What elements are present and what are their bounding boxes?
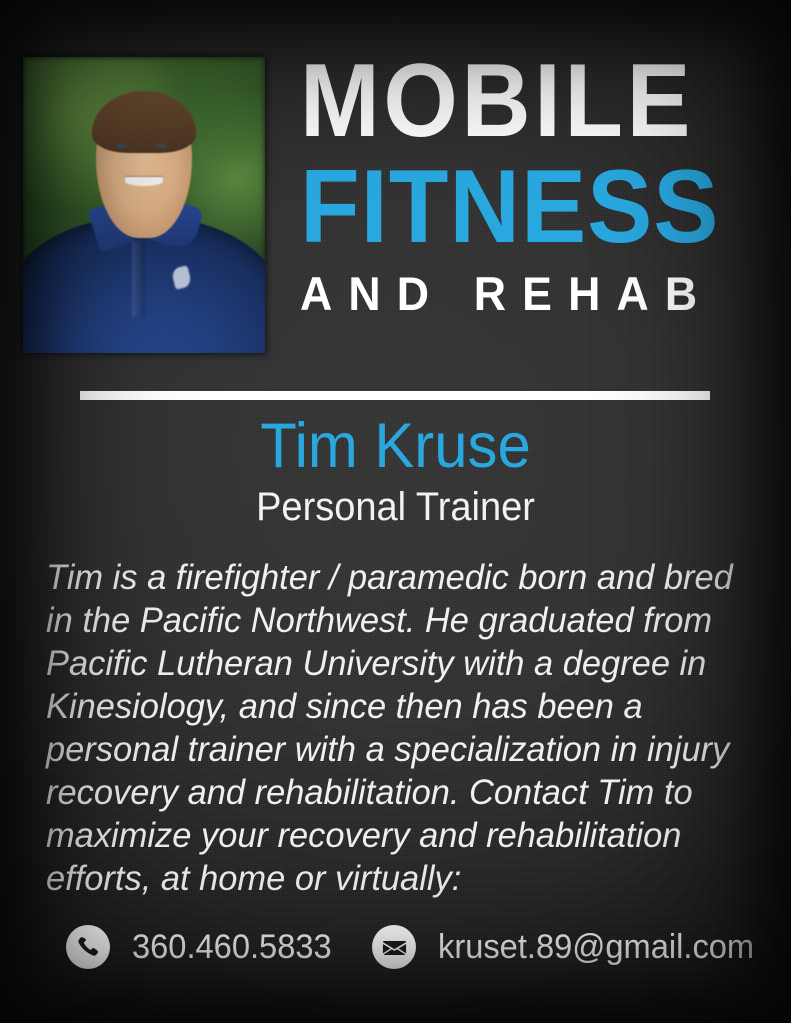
wordmark-line-mobile: MOBILE xyxy=(300,52,732,152)
bio-line: Kinesiology, and since then has been a xyxy=(46,685,731,728)
contact-email[interactable]: kruset.89@gmail.com xyxy=(372,916,767,978)
header-divider-rule xyxy=(80,391,710,400)
contact-phone[interactable]: 360.460.5833 xyxy=(66,916,340,978)
headshot-photo xyxy=(23,57,265,353)
person-identity-block: Tim Kruse Personal Trainer xyxy=(0,414,791,530)
envelope-icon xyxy=(372,925,416,969)
phone-number-text: 360.460.5833 xyxy=(132,930,332,964)
flyer-poster: MOBILE FITNESS AND REHAB Tim Kruse Perso… xyxy=(0,0,791,1023)
email-address-text: kruset.89@gmail.com xyxy=(438,930,754,964)
bio-line: recovery and rehabilitation. Contact Tim… xyxy=(46,771,731,814)
bio-line: Pacific Lutheran University with a degre… xyxy=(46,642,731,685)
bio-paragraph: Tim is a firefighter / paramedic born an… xyxy=(46,556,752,900)
bio-line: efforts, at home or virtually: xyxy=(46,857,731,900)
bio-line: Tim is a firefighter / paramedic born an… xyxy=(46,556,731,599)
wordmark-line-and-rehab: AND REHAB xyxy=(300,271,747,316)
bio-line: personal trainer with a specialization i… xyxy=(46,728,731,771)
person-role: Personal Trainer xyxy=(20,484,771,530)
wordmark-line-fitness: FITNESS xyxy=(300,158,742,258)
photo-blur-overlay xyxy=(23,57,265,353)
contact-row: 360.460.5833 kruset.89@gmail.com xyxy=(66,916,766,978)
bio-line: in the Pacific Northwest. He graduated f… xyxy=(46,599,731,642)
brand-wordmark: MOBILE FITNESS AND REHAB xyxy=(300,52,770,316)
phone-icon xyxy=(66,925,110,969)
flyer-header: MOBILE FITNESS AND REHAB xyxy=(0,0,791,372)
bio-line: maximize your recovery and rehabilitatio… xyxy=(46,814,731,857)
person-name: Tim Kruse xyxy=(20,414,771,478)
